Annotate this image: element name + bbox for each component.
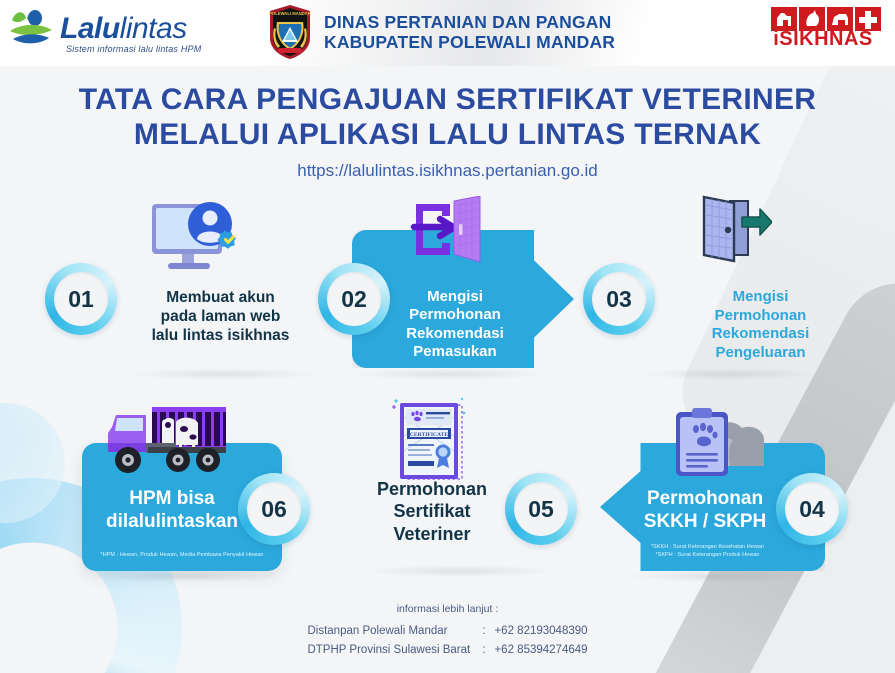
step-01-shadow bbox=[128, 368, 318, 380]
livestock-truck-icon bbox=[104, 403, 232, 477]
step-05-number: 05 bbox=[514, 482, 568, 536]
step-03-label-line-1: Mengisi bbox=[668, 288, 853, 307]
organization-block: POLEWALI MANDAR DINAS PERTANIAN DAN PANG… bbox=[268, 4, 615, 60]
title-line-2: MELALUI APLIKASI LALU LINTAS TERNAK bbox=[0, 117, 895, 152]
step-06-shadow bbox=[90, 570, 280, 582]
contact-name: Distanpan Polewali Mandar bbox=[307, 622, 482, 640]
step-05-label-line-2: Sertifikat bbox=[352, 500, 512, 522]
step-02-label-line-2: Permohonan bbox=[370, 306, 540, 324]
organization-title: DINAS PERTANIAN DAN PANGAN KABUPATEN POL… bbox=[324, 12, 615, 52]
polewali-mandar-crest-icon: POLEWALI MANDAR bbox=[268, 4, 312, 60]
step-01-number-badge[interactable]: 01 bbox=[45, 263, 117, 335]
step-03-icon bbox=[692, 195, 772, 267]
step-05-number-badge[interactable]: 05 bbox=[505, 473, 577, 545]
step-02-number: 02 bbox=[327, 272, 381, 326]
contact-name: DTPHP Provinsi Sulawesi Barat bbox=[307, 641, 482, 659]
title-line-1: TATA CARA PENGAJUAN SERTIFIKAT VETERINER bbox=[0, 82, 895, 117]
step-04-footnote: *SKKH : Surat Keterangan Kesehatan Hewan… bbox=[620, 543, 795, 559]
org-line-2: KABUPATEN POLEWALI MANDAR bbox=[324, 32, 615, 52]
clipboard-paw-livestock-icon bbox=[672, 408, 780, 480]
isikhnas-logo[interactable]: iSIKHNAS bbox=[765, 5, 881, 61]
svg-text:CERTIFICATE: CERTIFICATE bbox=[410, 432, 449, 438]
step-03-shadow bbox=[640, 368, 820, 380]
step-06-number-badge[interactable]: 06 bbox=[238, 473, 310, 545]
step-04-number-badge[interactable]: 04 bbox=[776, 473, 848, 545]
lalulintas-logo[interactable]: Lalulintas Sistem informasi lalu lintas … bbox=[8, 6, 208, 60]
brand-wordmark: Lalulintas bbox=[60, 12, 187, 46]
step-06-label-line-1: HPM bisa bbox=[92, 487, 252, 510]
page-title: TATA CARA PENGAJUAN SERTIFIKAT VETERINER… bbox=[0, 82, 895, 181]
step-04-footnote-line-2: *SKPH : Surat Keterangan Produk Hewan bbox=[620, 551, 795, 559]
step-05-icon: CERTIFICATE bbox=[390, 395, 470, 487]
step-01-number: 01 bbox=[54, 272, 108, 326]
veterinary-certificate-icon: CERTIFICATE bbox=[390, 395, 470, 487]
step-04-footnote-line-1: *SKKH : Surat Keterangan Kesehatan Hewan bbox=[620, 543, 795, 551]
step-06-label-line-2: dilalulintaskan bbox=[92, 510, 252, 533]
step-04-number: 04 bbox=[785, 482, 839, 536]
step-06-number: 06 bbox=[247, 482, 301, 536]
step-04-label: Permohonan SKKH / SKPH bbox=[620, 487, 790, 533]
bottom-left-blue-blob bbox=[0, 403, 65, 523]
step-02-number-badge[interactable]: 02 bbox=[318, 263, 390, 335]
step-03-label-line-4: Pengeluaran bbox=[668, 344, 853, 363]
step-06-label: HPM bisa dilalulintaskan bbox=[92, 487, 252, 533]
step-02-label-line-3: Rekomendasi bbox=[370, 325, 540, 343]
infographic-page: Lalulintas Sistem informasi lalu lintas … bbox=[0, 0, 895, 673]
org-line-1: DINAS PERTANIAN DAN PANGAN bbox=[324, 12, 615, 32]
contact-phone[interactable]: +62 85394274649 bbox=[494, 641, 587, 659]
step-02-shadow bbox=[352, 368, 547, 380]
desktop-user-verified-icon bbox=[148, 198, 240, 276]
step-01-label-line-2: pada laman web bbox=[118, 307, 323, 326]
leaf-field-logo-icon bbox=[8, 6, 56, 54]
step-01-label: Membuat akun pada laman web lalu lintas … bbox=[118, 288, 323, 346]
isikhnas-wordmark: iSIKHNAS bbox=[765, 28, 881, 51]
step-06-icon bbox=[104, 403, 232, 477]
svg-text:POLEWALI MANDAR: POLEWALI MANDAR bbox=[269, 11, 311, 16]
footer: informasi lebih lanjut : Distanpan Polew… bbox=[0, 603, 895, 659]
step-04-icon bbox=[672, 408, 780, 480]
step-02-icon bbox=[410, 196, 490, 268]
step-04-label-line-1: Permohonan bbox=[620, 487, 790, 510]
footer-contacts: Distanpan Polewali Mandar : +62 82193048… bbox=[307, 622, 587, 659]
step-06-footnote: *HPM : Hewan, Produk Hewan, Media Pembaw… bbox=[86, 551, 278, 559]
step-02-label: Mengisi Permohonan Rekomendasi Pemasukan bbox=[370, 288, 540, 361]
site-url[interactable]: https://lalulintas.isikhnas.pertanian.go… bbox=[0, 161, 895, 181]
step-05-label: Permohonan Sertifikat Veteriner bbox=[352, 478, 512, 545]
step-03-label: Mengisi Permohonan Rekomendasi Pengeluar… bbox=[668, 288, 853, 362]
step-01-icon bbox=[148, 198, 240, 276]
door-exit-arrow-icon bbox=[692, 195, 772, 267]
contact-row: DTPHP Provinsi Sulawesi Barat : +62 8539… bbox=[307, 641, 587, 659]
brand-tagline: Sistem informasi lalu lintas HPM bbox=[66, 44, 201, 54]
step-04-label-line-2: SKKH / SKPH bbox=[620, 510, 790, 533]
step-03-number: 03 bbox=[592, 272, 646, 326]
contact-row: Distanpan Polewali Mandar : +62 82193048… bbox=[307, 622, 587, 640]
step-02-label-line-4: Pemasukan bbox=[370, 343, 540, 361]
header-bar: Lalulintas Sistem informasi lalu lintas … bbox=[0, 0, 895, 66]
contact-phone[interactable]: +62 82193048390 bbox=[494, 622, 587, 640]
contact-separator: : bbox=[482, 641, 494, 659]
footer-heading: informasi lebih lanjut : bbox=[0, 603, 895, 615]
step-05-label-line-3: Veteriner bbox=[352, 523, 512, 545]
step-05-label-line-1: Permohonan bbox=[352, 478, 512, 500]
step-03-label-line-3: Rekomendasi bbox=[668, 325, 853, 344]
step-06-footnote-line-1: *HPM : Hewan, Produk Hewan, Media Pembaw… bbox=[86, 551, 278, 559]
step-05-shadow bbox=[365, 565, 555, 577]
step-03-number-badge[interactable]: 03 bbox=[583, 263, 655, 335]
step-01-label-line-1: Membuat akun bbox=[118, 288, 323, 307]
door-enter-arrow-icon bbox=[410, 196, 490, 268]
step-01-label-line-3: lalu lintas isikhnas bbox=[118, 326, 323, 345]
step-03-label-line-2: Permohonan bbox=[668, 307, 853, 326]
contact-separator: : bbox=[482, 622, 494, 640]
step-02-label-line-1: Mengisi bbox=[370, 288, 540, 306]
step-04-shadow bbox=[625, 570, 815, 582]
